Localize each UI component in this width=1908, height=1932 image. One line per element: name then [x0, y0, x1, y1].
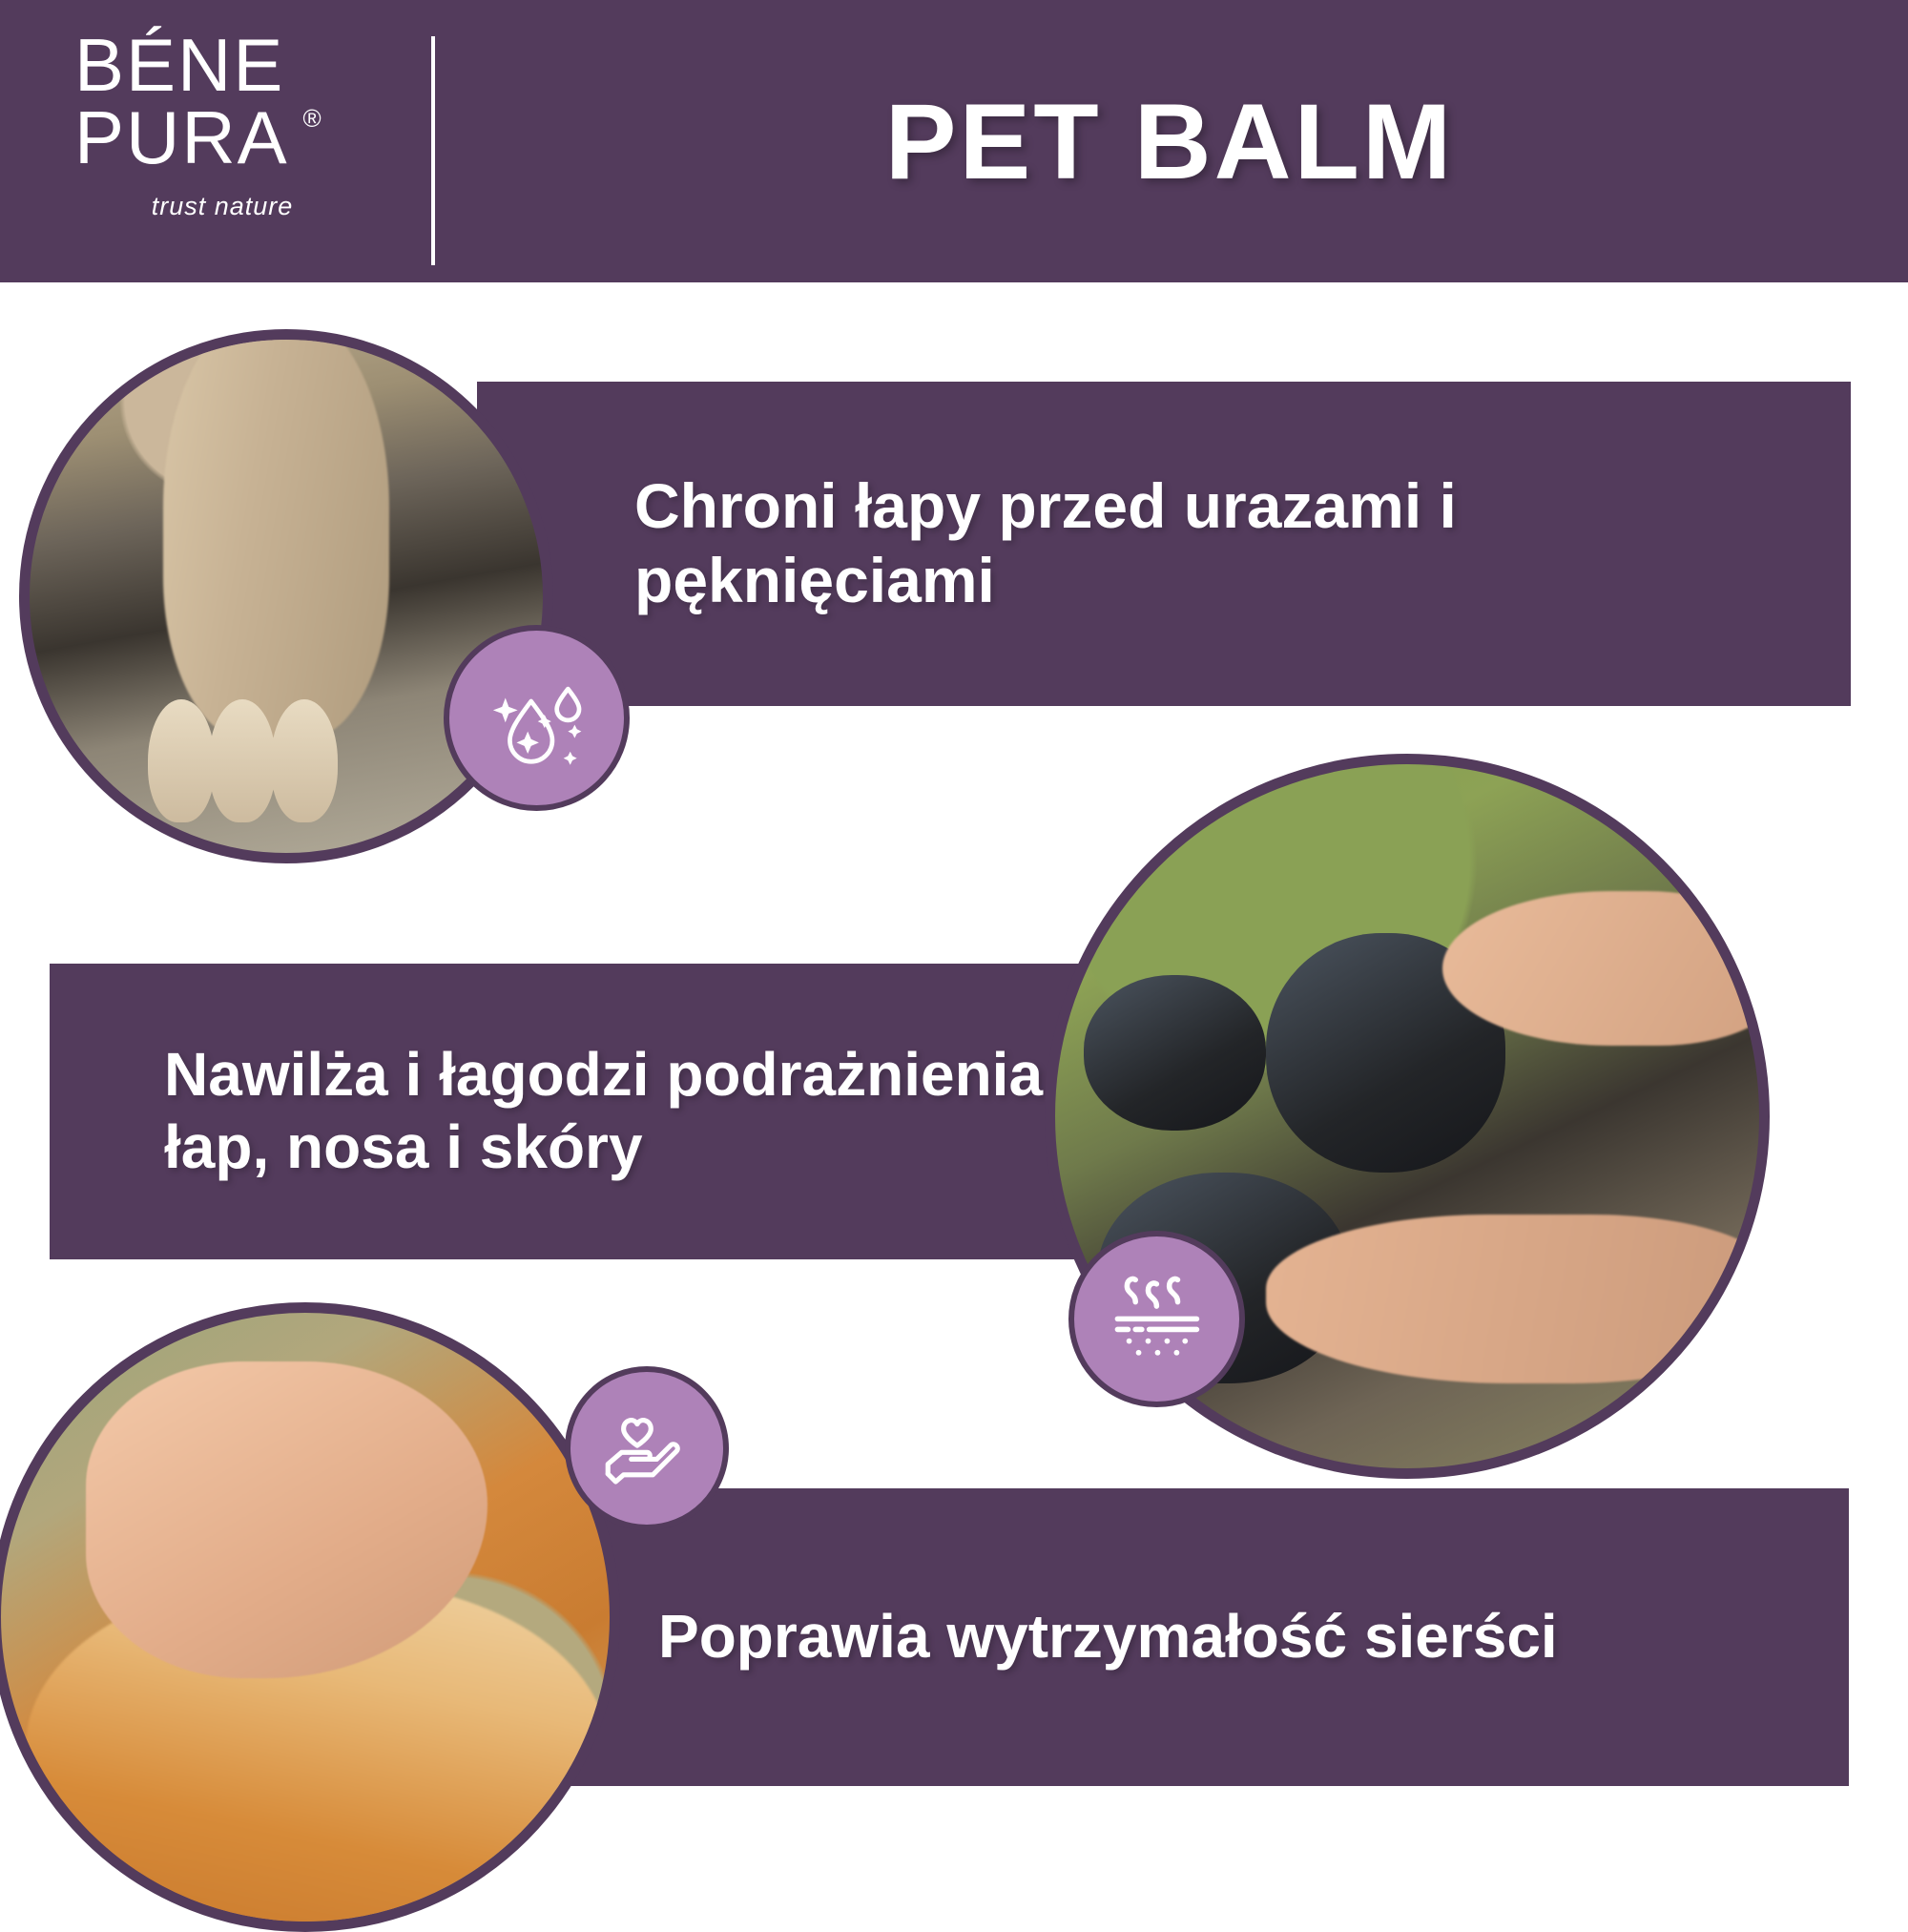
- logo-tagline: trust nature: [74, 192, 370, 221]
- benefit-banner-2: Nawilża i łagodzi podrażnienia łap, nosa…: [50, 964, 1145, 1259]
- logo-line-2: PURA: [74, 95, 289, 179]
- paw-toe-shape: [271, 699, 338, 822]
- benefit-banner-3: Poprawia wytrzymałość sierści: [553, 1488, 1849, 1786]
- page-header: BÉNE PURA ® trust nature PET BALM: [0, 0, 1908, 282]
- droplet-sparkle-icon: [444, 625, 630, 811]
- brand-logo: BÉNE PURA ® trust nature: [74, 29, 399, 248]
- human-finger-shape: [1442, 891, 1770, 1046]
- human-finger-shape: [1266, 1215, 1770, 1383]
- registered-trademark-icon: ®: [303, 107, 321, 131]
- benefit-text-3: Poprawia wytrzymałość sierści: [658, 1601, 1558, 1673]
- paw-leg-shape: [163, 329, 389, 740]
- benefit-banner-1: Chroni łapy przed urazami i pęknięciami: [477, 382, 1851, 706]
- paw-pad-shape: [1084, 975, 1267, 1130]
- hand-heart-icon: [565, 1366, 729, 1530]
- paw-toe-shape: [148, 699, 215, 822]
- logo-line-2-wrapper: PURA ®: [74, 101, 289, 174]
- skin-hydration-icon: [1068, 1231, 1245, 1407]
- benefit-text-1: Chroni łapy przed urazami i pęknięciami: [634, 469, 1794, 618]
- benefit-text-2: Nawilża i łagodzi podrażnienia łap, nosa…: [164, 1039, 1107, 1183]
- paw-toe-shape: [209, 699, 276, 822]
- logo-line-1: BÉNE: [74, 29, 399, 101]
- page-title: PET BALM: [431, 0, 1908, 282]
- benefit-photo-3: [0, 1302, 620, 1932]
